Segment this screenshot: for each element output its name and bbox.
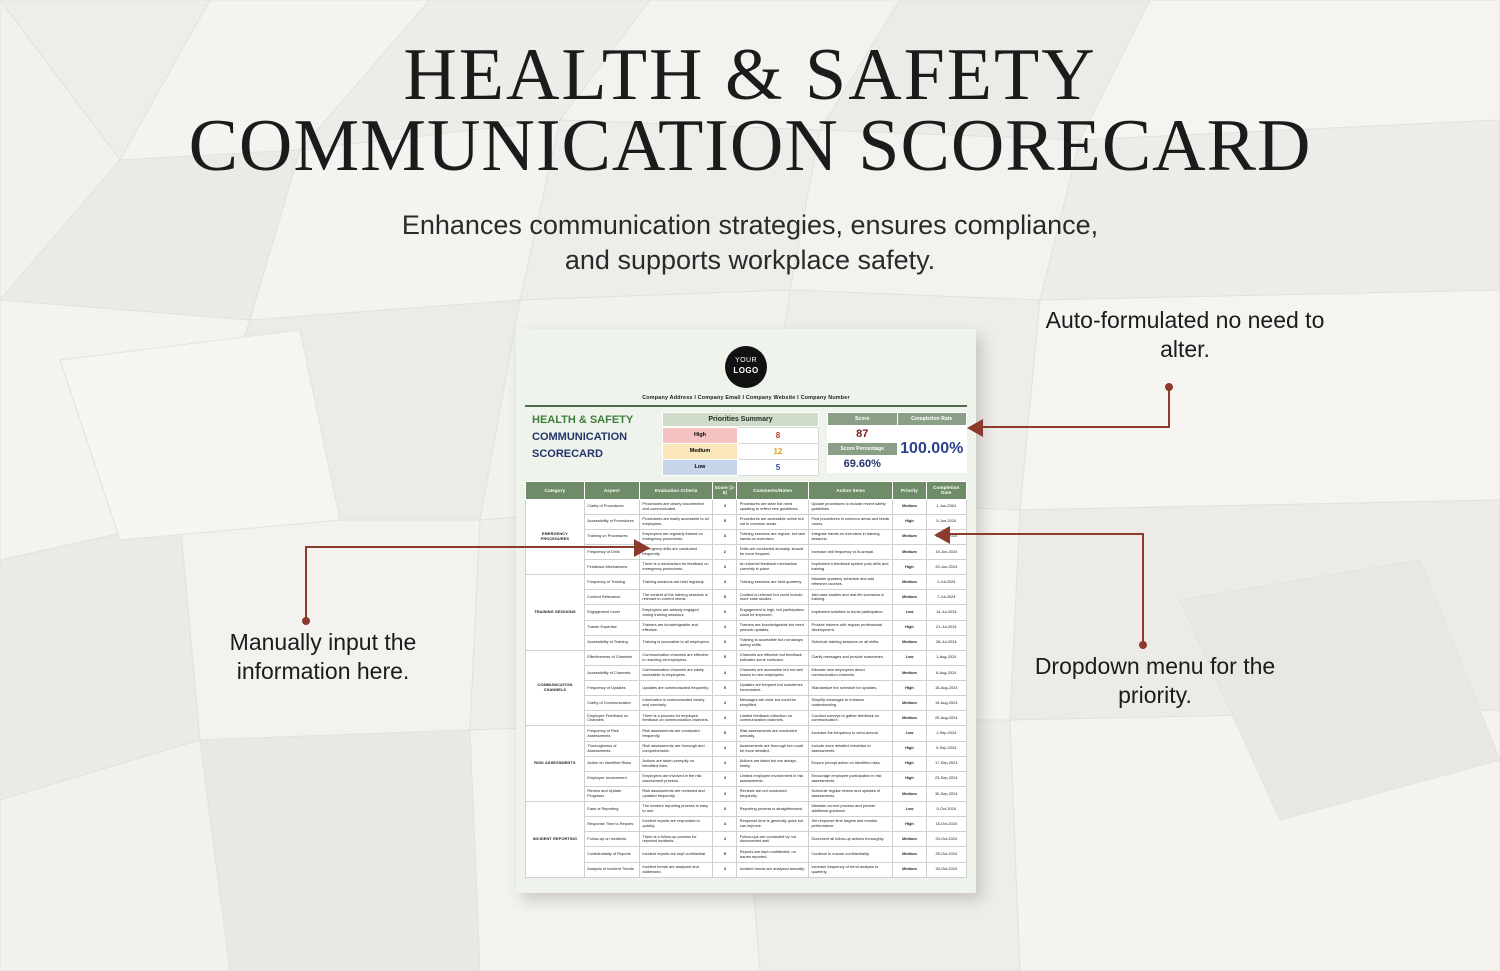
- score-cell: 4: [713, 711, 737, 726]
- logo-text-top: YOUR: [725, 357, 767, 366]
- evaluation-criteria-cell: Training is accessible to all employees.: [639, 635, 712, 650]
- action-items-cell: Maintain current process and provide add…: [808, 802, 893, 817]
- sheet-title-line-3: SCORECARD: [532, 446, 662, 463]
- completion-date-cell: 20-Jun-2024: [926, 560, 966, 575]
- action-items-cell: Integrate hands-on exercises in training…: [808, 529, 893, 544]
- priorities-summary: Priorities Summary High 8 Medium 12 Low: [662, 412, 819, 476]
- score-cell: 4: [713, 620, 737, 635]
- action-items-cell: Post procedures in common areas and brea…: [808, 514, 893, 529]
- title-line-2: COMMUNICATION SCORECARD: [0, 111, 1500, 182]
- priority-row-medium: Medium 12: [663, 443, 819, 459]
- comments-cell: Channels are accessible but not well kno…: [737, 665, 809, 680]
- comments-cell: Procedures are accessible online but not…: [737, 514, 809, 529]
- table-row: Content RelevanceThe content of the trai…: [526, 590, 967, 605]
- score-cell: 5: [713, 726, 737, 741]
- table-row: Accessibility of TrainingTraining is acc…: [526, 635, 967, 650]
- score-cell: 4: [713, 832, 737, 847]
- table-row: Follow-up on IncidentsThere is a follow-…: [526, 832, 967, 847]
- title-line-1: HEALTH & SAFETY: [0, 40, 1500, 111]
- score-cell: 5: [713, 514, 737, 529]
- completion-date-cell: 1-Jun-2024: [926, 499, 966, 514]
- comments-cell: Trainers are knowledgeable but need peri…: [737, 620, 809, 635]
- priority-cell[interactable]: Medium: [893, 665, 926, 680]
- action-items-cell: Increase drill frequency to bi-annual.: [808, 544, 893, 559]
- column-header-evaluation-criteria: Evaluation Criteria: [639, 481, 712, 499]
- sheet-title-line-2: COMMUNICATION: [532, 429, 662, 446]
- priority-cell[interactable]: High: [893, 817, 926, 832]
- table-row: Thoroughness of AssessmentsRisk assessme…: [526, 741, 967, 756]
- score-label: Score: [828, 412, 898, 425]
- evaluation-criteria-cell: Risk assessments are conducted frequentl…: [639, 726, 712, 741]
- priority-cell[interactable]: Low: [893, 802, 926, 817]
- score-cell: 5: [713, 650, 737, 665]
- action-items-cell: Simplify messages to enhance understandi…: [808, 696, 893, 711]
- comments-cell: Training sessions are held quarterly.: [737, 575, 809, 590]
- evaluation-criteria-cell: There is a follow-up process for reporte…: [639, 832, 712, 847]
- annotation-dropdown-priority: Dropdown menu for the priority.: [1010, 652, 1300, 711]
- subtitle-line-2: and supports workplace safety.: [0, 243, 1500, 278]
- score-cell: 5: [713, 847, 737, 862]
- priority-cell[interactable]: High: [893, 741, 926, 756]
- comments-cell: Channels are effective but feedback indi…: [737, 650, 809, 665]
- category-cell: COMMUNICATION CHANNELS: [526, 650, 585, 726]
- subtitle-line-1: Enhances communication strategies, ensur…: [0, 208, 1500, 243]
- score-cell: 4: [713, 786, 737, 801]
- aspect-cell: Clarity of Communication: [584, 696, 639, 711]
- score-cell: 4: [713, 771, 737, 786]
- aspect-cell: Effectiveness of Channels: [584, 650, 639, 665]
- aspect-cell: Ease of Reporting: [584, 802, 639, 817]
- evaluation-criteria-cell: Incident reports are kept confidential.: [639, 847, 712, 862]
- action-items-cell: Maintain quarterly schedule and add refr…: [808, 575, 893, 590]
- table-row: Accessibility of ProceduresProcedures ar…: [526, 514, 967, 529]
- priority-cell[interactable]: High: [893, 771, 926, 786]
- priority-cell[interactable]: High: [893, 681, 926, 696]
- aspect-cell: Frequency of Training: [584, 575, 639, 590]
- action-items-cell: Implement activities to boost participat…: [808, 605, 893, 620]
- aspect-cell: Engagement Level: [584, 605, 639, 620]
- evaluation-criteria-cell: There is a mechanism for feedback on eme…: [639, 560, 712, 575]
- action-items-cell: Schedule training sessions on all shifts…: [808, 635, 893, 650]
- completion-date-cell: 19-Aug-2024: [926, 696, 966, 711]
- comments-cell: Incident trends are analyzed annually.: [737, 862, 809, 877]
- completion-date-cell: 14-Jul-2024: [926, 605, 966, 620]
- evaluation-criteria-cell: Risk assessments are reviewed and update…: [639, 786, 712, 801]
- comments-cell: Training is accessible but not always du…: [737, 635, 809, 650]
- action-items-cell: Increase the frequency to semi-annual.: [808, 726, 893, 741]
- completion-date-cell: 25-Oct-2024: [926, 847, 966, 862]
- page-title: HEALTH & SAFETY COMMUNICATION SCORECARD: [0, 40, 1500, 182]
- completion-date-cell: 25-Aug-2024: [926, 711, 966, 726]
- evaluation-criteria-cell: Information is communicated clearly and …: [639, 696, 712, 711]
- page-subtitle: Enhances communication strategies, ensur…: [0, 208, 1500, 278]
- aspect-cell: Response Time to Reports: [584, 817, 639, 832]
- aspect-cell: Employee Involvement: [584, 771, 639, 786]
- column-header-priority: Priority: [893, 481, 926, 499]
- company-info: Company Address I Company Email I Compan…: [525, 395, 967, 401]
- evaluation-criteria-cell: Updates are communicated frequently.: [639, 681, 712, 696]
- annotation-manual-input: Manually input the information here.: [178, 628, 468, 687]
- completion-rate-label: Completion Rate: [897, 412, 967, 425]
- table-row: Action on Identified RisksActions are ta…: [526, 756, 967, 771]
- annotation-auto-formulated: Auto-formulated no need to alter.: [1040, 306, 1330, 365]
- evaluation-criteria-cell: Employees are regularly trained on emerg…: [639, 529, 712, 544]
- evaluation-criteria-cell: There is a process for employee feedback…: [639, 711, 712, 726]
- sheet-title-line-1: HEALTH & SAFETY: [532, 412, 662, 429]
- action-items-cell: Include more detailed checklists in asse…: [808, 741, 893, 756]
- table-row: Trainer ExpertiseTrainers are knowledgea…: [526, 620, 967, 635]
- completion-date-cell: 30-Oct-2024: [926, 862, 966, 877]
- priority-cell[interactable]: Medium: [893, 711, 926, 726]
- aspect-cell: Confidentiality of Reports: [584, 847, 639, 862]
- action-items-cell: Add case studies and real-life scenarios…: [808, 590, 893, 605]
- action-items-cell: Provide trainers with regular profession…: [808, 620, 893, 635]
- leader-dot-dropdown-priority: [1139, 641, 1147, 649]
- evaluation-criteria-cell: Incident reports are responded to quickl…: [639, 817, 712, 832]
- completion-date-cell: 30-Sep-2024: [926, 786, 966, 801]
- priority-cell[interactable]: Medium: [893, 590, 926, 605]
- aspect-cell: Clarity of Procedures: [584, 499, 639, 514]
- completion-date-cell: 1-Sep-2024: [926, 726, 966, 741]
- score-cell: 3: [713, 635, 737, 650]
- comments-cell: Follow-ups are conducted by not document…: [737, 832, 809, 847]
- action-items-cell: Update procedures to include recent safe…: [808, 499, 893, 514]
- evaluation-criteria-cell: Procedures are easily accessible to all …: [639, 514, 712, 529]
- score-cell: 4: [713, 499, 737, 514]
- score-cell: 3: [713, 605, 737, 620]
- aspect-cell: Content Relevance: [584, 590, 639, 605]
- evaluation-criteria-cell: Emergency drills are conducted frequentl…: [639, 544, 712, 559]
- table-row: Employee Feedback on ChannelsThere is a …: [526, 711, 967, 726]
- completion-date-cell: 9-Sep-2024: [926, 741, 966, 756]
- priority-cell[interactable]: High: [893, 620, 926, 635]
- priority-count-medium: 12: [737, 443, 818, 459]
- company-logo: YOUR LOGO: [725, 346, 767, 388]
- table-row: Analysis of Incident TrendsIncident tren…: [526, 862, 967, 877]
- completion-date-cell: 21-Jul-2024: [926, 620, 966, 635]
- evaluation-criteria-cell: Training sessions are held regularly.: [639, 575, 712, 590]
- scorecard-document: YOUR LOGO Company Address I Company Emai…: [516, 329, 976, 893]
- completion-date-cell: 15-Aug-2024: [926, 681, 966, 696]
- score-cell: 2: [713, 544, 737, 559]
- logo-text-bottom: LOGO: [725, 366, 767, 376]
- column-header-score: Score (1-5): [713, 481, 737, 499]
- completion-date-cell: 28-Jul-2024: [926, 635, 966, 650]
- action-items-cell: Continue to ensure confidentiality.: [808, 847, 893, 862]
- comments-cell: Limited employee involvement in risk ass…: [737, 771, 809, 786]
- aspect-cell: Frequency of Risk Assessments: [584, 726, 639, 741]
- table-row: Review and Update ProgramsRisk assessmen…: [526, 786, 967, 801]
- action-items-cell: Increase frequency of trend analysis to …: [808, 862, 893, 877]
- comments-cell: Risk assessments are conducted annually.: [737, 726, 809, 741]
- priority-cell[interactable]: Low: [893, 650, 926, 665]
- column-header-action-items: Action Items: [808, 481, 893, 499]
- score-cell: 3: [713, 560, 737, 575]
- comments-cell: Limited feedback collection on communica…: [737, 711, 809, 726]
- completion-date-cell: 15-Jun-2024: [926, 544, 966, 559]
- table-row: Response Time to ReportsIncident reports…: [526, 817, 967, 832]
- score-cell: 4: [713, 756, 737, 771]
- comments-cell: Reporting process is straightforward.: [737, 802, 809, 817]
- logo-area: YOUR LOGO: [525, 338, 967, 388]
- table-row: Training on ProceduresEmployees are regu…: [526, 529, 967, 544]
- leader-arrow-dropdown-priority: [934, 526, 950, 544]
- comments-cell: Messages are clear but could be simplifi…: [737, 696, 809, 711]
- sheet-title: HEALTH & SAFETY COMMUNICATION SCORECARD: [525, 412, 662, 476]
- priority-cell[interactable]: High: [893, 560, 926, 575]
- leader-dot-auto-formulated: [1165, 383, 1173, 391]
- aspect-cell: Frequency of Updates: [584, 681, 639, 696]
- aspect-cell: Thoroughness of Assessments: [584, 741, 639, 756]
- completion-date-cell: 1-Aug-2024: [926, 650, 966, 665]
- priority-cell[interactable]: Medium: [893, 786, 926, 801]
- table-row: Confidentiality of ReportsIncident repor…: [526, 847, 967, 862]
- comments-cell: Updates are frequent but sometimes incon…: [737, 681, 809, 696]
- table-row: Frequency of UpdatesUpdates are communic…: [526, 681, 967, 696]
- score-cell: 4: [713, 741, 737, 756]
- aspect-cell: Employee Feedback on Channels: [584, 711, 639, 726]
- priority-label-medium: Medium: [663, 443, 738, 459]
- aspect-cell: Review and Update Programs: [584, 786, 639, 801]
- completion-date-cell: 5-Oct-2024: [926, 802, 966, 817]
- comments-cell: Training sessions are regular, but lack …: [737, 529, 809, 544]
- leader-arrow-manual-input: [634, 539, 650, 557]
- table-header-row: Category Aspect Evaluation Criteria Scor…: [526, 481, 967, 499]
- comments-cell: Content is relevant but could include mo…: [737, 590, 809, 605]
- priority-label-low: Low: [663, 459, 738, 475]
- score-panel: Score Completion Rate 87 100.00% Score P…: [827, 412, 967, 476]
- aspect-cell: Analysis of Incident Trends: [584, 862, 639, 877]
- table-row: Employee InvolvementEmployees are involv…: [526, 771, 967, 786]
- score-cell: 5: [713, 681, 737, 696]
- evaluation-criteria-cell: The content of the training sessions is …: [639, 590, 712, 605]
- category-cell: RISK ASSESSMENTS: [526, 726, 585, 802]
- score-cell: 4: [713, 665, 737, 680]
- table-row: INCIDENT REPORTINGEase of ReportingThe i…: [526, 802, 967, 817]
- priorities-summary-heading: Priorities Summary: [662, 412, 819, 427]
- priority-label-high: High: [663, 427, 738, 443]
- priority-row-low: Low 5: [663, 459, 819, 475]
- action-items-cell: Schedule regular review and updates of a…: [808, 786, 893, 801]
- action-items-cell: Standardize the schedule for updates.: [808, 681, 893, 696]
- score-cell: 4: [713, 817, 737, 832]
- score-percentage-value: 69.60%: [828, 455, 898, 472]
- completion-date-cell: 17-Sep-2024: [926, 756, 966, 771]
- priority-cell[interactable]: Medium: [893, 862, 926, 877]
- comments-cell: Procedures are clear but need updating t…: [737, 499, 809, 514]
- aspect-cell: Follow-up on Incidents: [584, 832, 639, 847]
- score-cell: 3: [713, 529, 737, 544]
- aspect-cell: Training on Procedures: [584, 529, 639, 544]
- priority-cell[interactable]: Medium: [893, 575, 926, 590]
- comments-cell: Actions are taken but are always timely.: [737, 756, 809, 771]
- page-header: HEALTH & SAFETY COMMUNICATION SCORECARD …: [0, 40, 1500, 278]
- priority-cell[interactable]: Medium: [893, 529, 926, 544]
- evaluation-criteria-cell: Communication channels are easily access…: [639, 665, 712, 680]
- evaluation-criteria-cell: Employees are actively engaged during tr…: [639, 605, 712, 620]
- completion-date-cell: 15-Oct-2024: [926, 817, 966, 832]
- action-items-cell: Conduct surveys to gather feedback on co…: [808, 711, 893, 726]
- score-cell: 4: [713, 575, 737, 590]
- aspect-cell: Feedback Mechanisms: [584, 560, 639, 575]
- completion-date-cell: 8-Aug-2024: [926, 665, 966, 680]
- column-header-completion-date: Completion Date: [926, 481, 966, 499]
- table-row: COMMUNICATION CHANNELSEffectiveness of C…: [526, 650, 967, 665]
- score-cell: 4: [713, 862, 737, 877]
- table-row: Clarity of CommunicationInformation is c…: [526, 696, 967, 711]
- action-items-cell: Ensure prompt action on identified risks…: [808, 756, 893, 771]
- comments-cell: Assessments are thorough but could be mo…: [737, 741, 809, 756]
- completion-date-cell: 7-Jul-2024: [926, 590, 966, 605]
- score-cell: 3: [713, 802, 737, 817]
- summary-band: HEALTH & SAFETY COMMUNICATION SCORECARD …: [525, 407, 967, 481]
- evaluation-criteria-cell: Procedures are clearly documented and co…: [639, 499, 712, 514]
- table-row: TRAINING SESSIONSFrequency of TrainingTr…: [526, 575, 967, 590]
- action-items-cell: Set response time targets and monitor pe…: [808, 817, 893, 832]
- priority-cell[interactable]: High: [893, 756, 926, 771]
- aspect-cell: Trainer Expertise: [584, 620, 639, 635]
- comments-cell: Response time is generally quick but can…: [737, 817, 809, 832]
- action-items-cell: Educate new employees about communicatio…: [808, 665, 893, 680]
- score-cell: 5: [713, 590, 737, 605]
- priority-cell[interactable]: Medium: [893, 544, 926, 559]
- table-row: Engagement LevelEmployees are actively e…: [526, 605, 967, 620]
- action-items-cell: Clarify messages and provide summaries.: [808, 650, 893, 665]
- category-cell: EMERGENCY PROCEDURES: [526, 499, 585, 575]
- evaluation-criteria-cell: Incident trends are analyzed and address…: [639, 862, 712, 877]
- action-items-cell: Implement a feedback system post-drills …: [808, 560, 893, 575]
- column-header-aspect: Aspect: [584, 481, 639, 499]
- comments-cell: Drills are conducted annually, should be…: [737, 544, 809, 559]
- score-value: 87: [828, 425, 898, 442]
- aspect-cell: Accessibility of Procedures: [584, 514, 639, 529]
- category-cell: TRAINING SESSIONS: [526, 575, 585, 651]
- table-row: Feedback MechanismsThere is a mechanism …: [526, 560, 967, 575]
- table-row: Accessibility of ChannelsCommunication c…: [526, 665, 967, 680]
- leader-arrow-auto-formulated: [967, 419, 983, 437]
- evaluation-criteria-cell: Trainers are knowledgeable and effective…: [639, 620, 712, 635]
- priority-count-high: 8: [737, 427, 818, 443]
- priority-cell[interactable]: Low: [893, 726, 926, 741]
- completion-date-cell: 20-Oct-2024: [926, 832, 966, 847]
- priority-cell[interactable]: High: [893, 514, 926, 529]
- evaluation-criteria-cell: Actions are taken promptly on identified…: [639, 756, 712, 771]
- score-cell: 4: [713, 696, 737, 711]
- comments-cell: Reports are kept confidential, no issues…: [737, 847, 809, 862]
- table-row: RISK ASSESSMENTSFrequency of Risk Assess…: [526, 726, 967, 741]
- evaluation-criteria-cell: Communication channels are effective in …: [639, 650, 712, 665]
- completion-date-cell: 23-Sep-2024: [926, 771, 966, 786]
- priority-cell[interactable]: Medium: [893, 832, 926, 847]
- priority-count-low: 5: [737, 459, 818, 475]
- table-row: EMERGENCY PROCEDURESClarity of Procedure…: [526, 499, 967, 514]
- evaluation-criteria-cell: Employees are involved in the risk asses…: [639, 771, 712, 786]
- score-percentage-label: Score Percentage: [828, 442, 898, 455]
- evaluation-criteria-cell: Risk assessments are thorough and compre…: [639, 741, 712, 756]
- priority-cell[interactable]: Medium: [893, 696, 926, 711]
- action-items-cell: Encourage employee participation in risk…: [808, 771, 893, 786]
- comments-cell: An informal feedback mechanism currently…: [737, 560, 809, 575]
- comments-cell: Engagement is high, but participation co…: [737, 605, 809, 620]
- completion-date-cell: 1-Jul-2024: [926, 575, 966, 590]
- aspect-cell: Action on Identified Risks: [584, 756, 639, 771]
- completion-rate-value: 100.00%: [897, 425, 967, 472]
- evaluation-criteria-cell: The incident reporting process is easy t…: [639, 802, 712, 817]
- priority-cell[interactable]: Medium: [893, 499, 926, 514]
- category-cell: INCIDENT REPORTING: [526, 802, 585, 878]
- aspect-cell: Accessibility of Channels: [584, 665, 639, 680]
- scorecard-table: Category Aspect Evaluation Criteria Scor…: [525, 481, 967, 878]
- aspect-cell: Accessibility of Training: [584, 635, 639, 650]
- comments-cell: Reviews are not conducted frequently.: [737, 786, 809, 801]
- column-header-category: Category: [526, 481, 585, 499]
- action-items-cell: Document all follow-up actions thoroughl…: [808, 832, 893, 847]
- priority-row-high: High 8: [663, 427, 819, 443]
- priority-cell[interactable]: Low: [893, 605, 926, 620]
- column-header-comments: Comments/Notes: [737, 481, 809, 499]
- priority-cell[interactable]: Medium: [893, 635, 926, 650]
- priority-cell[interactable]: Medium: [893, 847, 926, 862]
- leader-dot-manual-input: [302, 617, 310, 625]
